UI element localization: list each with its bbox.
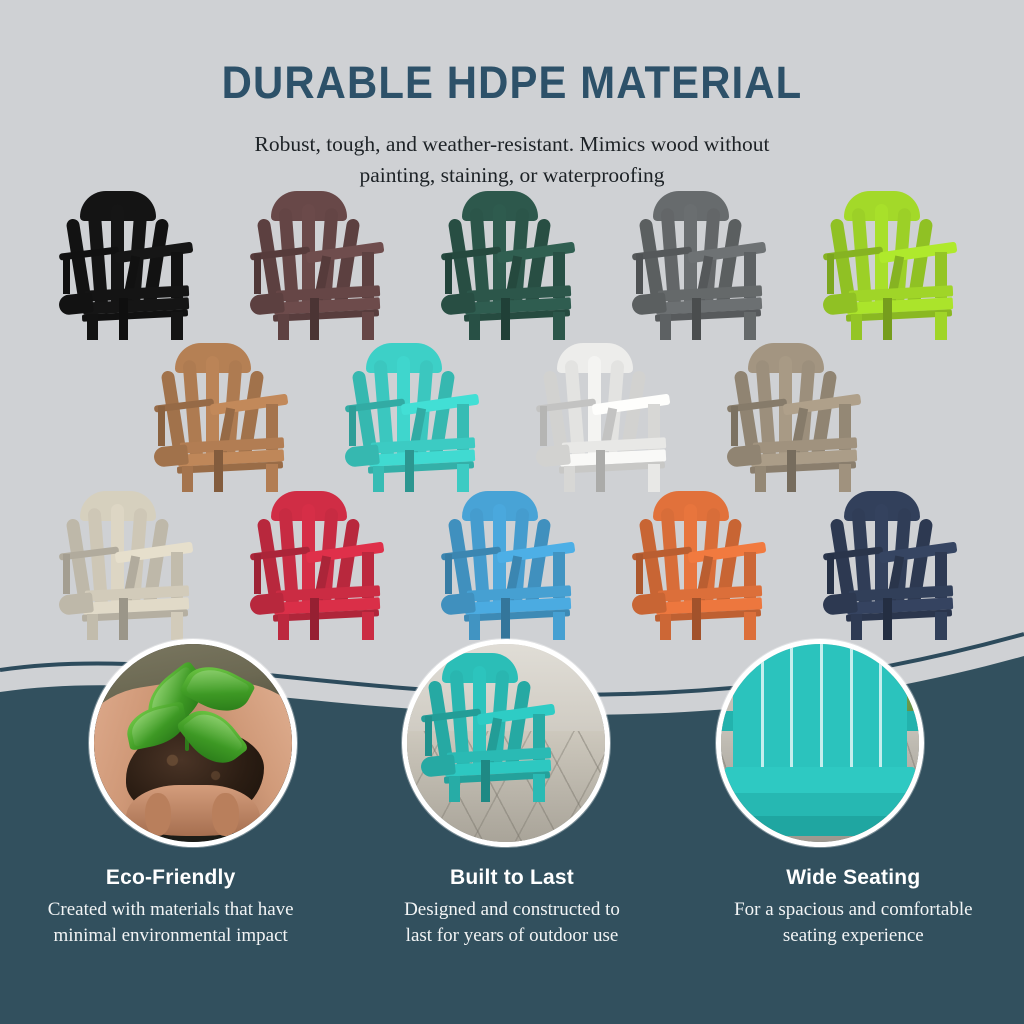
chair-swatch-orange[interactable] (626, 490, 781, 640)
chair-left-arm-post (540, 406, 547, 446)
feature-desc-line-2: minimal environmental impact (14, 923, 327, 949)
chair-back-leg (481, 760, 490, 802)
subtitle-line-1: Robust, tough, and weather-resistant. Mi… (0, 129, 1024, 160)
feature-desc-line-1: Designed and constructed to (355, 897, 668, 923)
chair-front-leg (373, 466, 384, 492)
feature-desc-line-1: Created with materials that have (14, 897, 327, 923)
chair-front-leg (839, 464, 851, 492)
chair-left-arm-post (63, 554, 70, 594)
chair-back-leg (310, 298, 319, 340)
chair-front-leg (362, 312, 374, 340)
chair-left-arm-post (636, 254, 643, 294)
chair-front-leg (171, 312, 183, 340)
chair-front-leg (182, 466, 193, 492)
chair-front-leg (755, 466, 766, 492)
feature-desc-line-1: For a spacious and comfortable (697, 897, 1010, 923)
chair-folding-foot (535, 444, 571, 467)
chair-folding-foot (58, 292, 94, 315)
chair-back-leg (787, 450, 796, 492)
chair-seat-slat (725, 767, 915, 795)
chair-swatch-gray[interactable] (626, 190, 781, 340)
chair-left-arm-post (63, 254, 70, 294)
chair-folding-foot (249, 292, 285, 315)
chair-left-arm-post (445, 254, 452, 294)
chair-left-arm-post (827, 254, 834, 294)
feature-title: Built to Last (355, 866, 668, 890)
feature-title: Wide Seating (697, 866, 1010, 890)
chair-front-leg (744, 312, 756, 340)
page-title: DURABLE HDPE MATERIAL (36, 57, 988, 109)
chair-front-leg (564, 466, 575, 492)
chair-swatch-ivory[interactable] (53, 490, 208, 640)
chair-swatch-driftwood[interactable] (721, 342, 876, 492)
turquoise-chair (415, 652, 605, 838)
chair-folding-foot (58, 592, 94, 615)
chair-front-leg (457, 464, 469, 492)
chair-folding-foot (440, 592, 476, 615)
chair-back-leg (214, 450, 223, 492)
chair-front-leg (87, 314, 98, 340)
chair-swatch-red[interactable] (244, 490, 399, 640)
chair-back-leg (405, 450, 414, 492)
fingers (126, 785, 261, 836)
chair-folding-foot (822, 292, 858, 315)
chair-folding-foot (440, 292, 476, 315)
feature-eco-friendly: Eco-Friendly Created with materials that… (0, 866, 341, 949)
turquoise-chair-on-patio-photo (407, 644, 605, 842)
chair-folding-foot (153, 444, 189, 467)
chair-row-3 (0, 490, 1024, 640)
chair-front-leg (469, 314, 480, 340)
chair-folding-foot (822, 592, 858, 615)
built-to-last-photo (402, 639, 610, 847)
chair-front-leg (553, 312, 565, 340)
chair-front-leg (935, 312, 947, 340)
chair-swatch-turquoise[interactable] (339, 342, 494, 492)
chair-folding-foot (726, 444, 762, 467)
feature-description: Designed and constructed to last for yea… (355, 897, 668, 949)
chair-color-grid (0, 190, 1024, 650)
eco-friendly-photo (89, 639, 297, 847)
chair-left-arm-post (425, 716, 432, 756)
chair-left-arm-post (254, 254, 261, 294)
chair-back-slats (733, 639, 907, 775)
chair-back-leg (692, 298, 701, 340)
chair-folding-foot (344, 444, 380, 467)
turquoise-chair-wide-seat-closeup-photo (721, 644, 919, 842)
hands-holding-soil-seedling-photo (94, 644, 292, 842)
chair-swatch-brown[interactable] (244, 190, 399, 340)
chair-swatch-dark-green[interactable] (435, 190, 590, 340)
subtitle-line-2: painting, staining, or waterproofing (0, 160, 1024, 191)
feature-description: Created with materials that have minimal… (14, 897, 327, 949)
chair-left-arm-post (254, 554, 261, 594)
chair-front-leg (266, 464, 278, 492)
header-block: DURABLE HDPE MATERIAL Robust, tough, and… (0, 0, 1024, 191)
chair-swatch-lime-green[interactable] (817, 190, 972, 340)
feature-title: Eco-Friendly (14, 866, 327, 890)
feature-desc-line-2: seating experience (697, 923, 1010, 949)
feature-caption-row: Eco-Friendly Created with materials that… (0, 866, 1024, 949)
feature-desc-line-2: last for years of outdoor use (355, 923, 668, 949)
chair-left-arm-post (158, 406, 165, 446)
chair-front-leg (449, 776, 460, 802)
chair-folding-foot (631, 592, 667, 615)
chair-row-2 (0, 342, 1024, 492)
chair-left-arm-post (636, 554, 643, 594)
chair-front-leg (278, 314, 289, 340)
chair-left-arm-post (827, 554, 834, 594)
feature-built-to-last: Built to Last Designed and constructed t… (341, 866, 682, 949)
chair-swatch-sky-blue[interactable] (435, 490, 590, 640)
chair-front-apron (721, 816, 919, 836)
chair-folding-foot (249, 592, 285, 615)
chair-swatch-white[interactable] (530, 342, 685, 492)
chair-back-leg (596, 450, 605, 492)
chair-back-leg (883, 298, 892, 340)
chair-row-1 (0, 190, 1024, 340)
chair-front-leg (851, 314, 862, 340)
chair-front-leg (648, 464, 660, 492)
chair-swatch-teak[interactable] (148, 342, 303, 492)
feature-description: For a spacious and comfortable seating e… (697, 897, 1010, 949)
chair-folding-foot (420, 754, 456, 777)
chair-left-arm-post (445, 554, 452, 594)
chair-left-arm-post (731, 406, 738, 446)
chair-back-leg (119, 298, 128, 340)
feature-wide-seating: Wide Seating For a spacious and comforta… (683, 866, 1024, 949)
page-subtitle: Robust, tough, and weather-resistant. Mi… (0, 129, 1024, 191)
chair-folding-foot (631, 292, 667, 315)
chair-front-leg (660, 314, 671, 340)
chair-seat-slat (721, 793, 919, 819)
chair-left-arm-post (349, 406, 356, 446)
chair-front-leg (533, 774, 545, 802)
wide-seating-photo (716, 639, 924, 847)
chair-swatch-black[interactable] (53, 190, 208, 340)
chair-back-leg (501, 298, 510, 340)
chair-swatch-navy-blue[interactable] (817, 490, 972, 640)
